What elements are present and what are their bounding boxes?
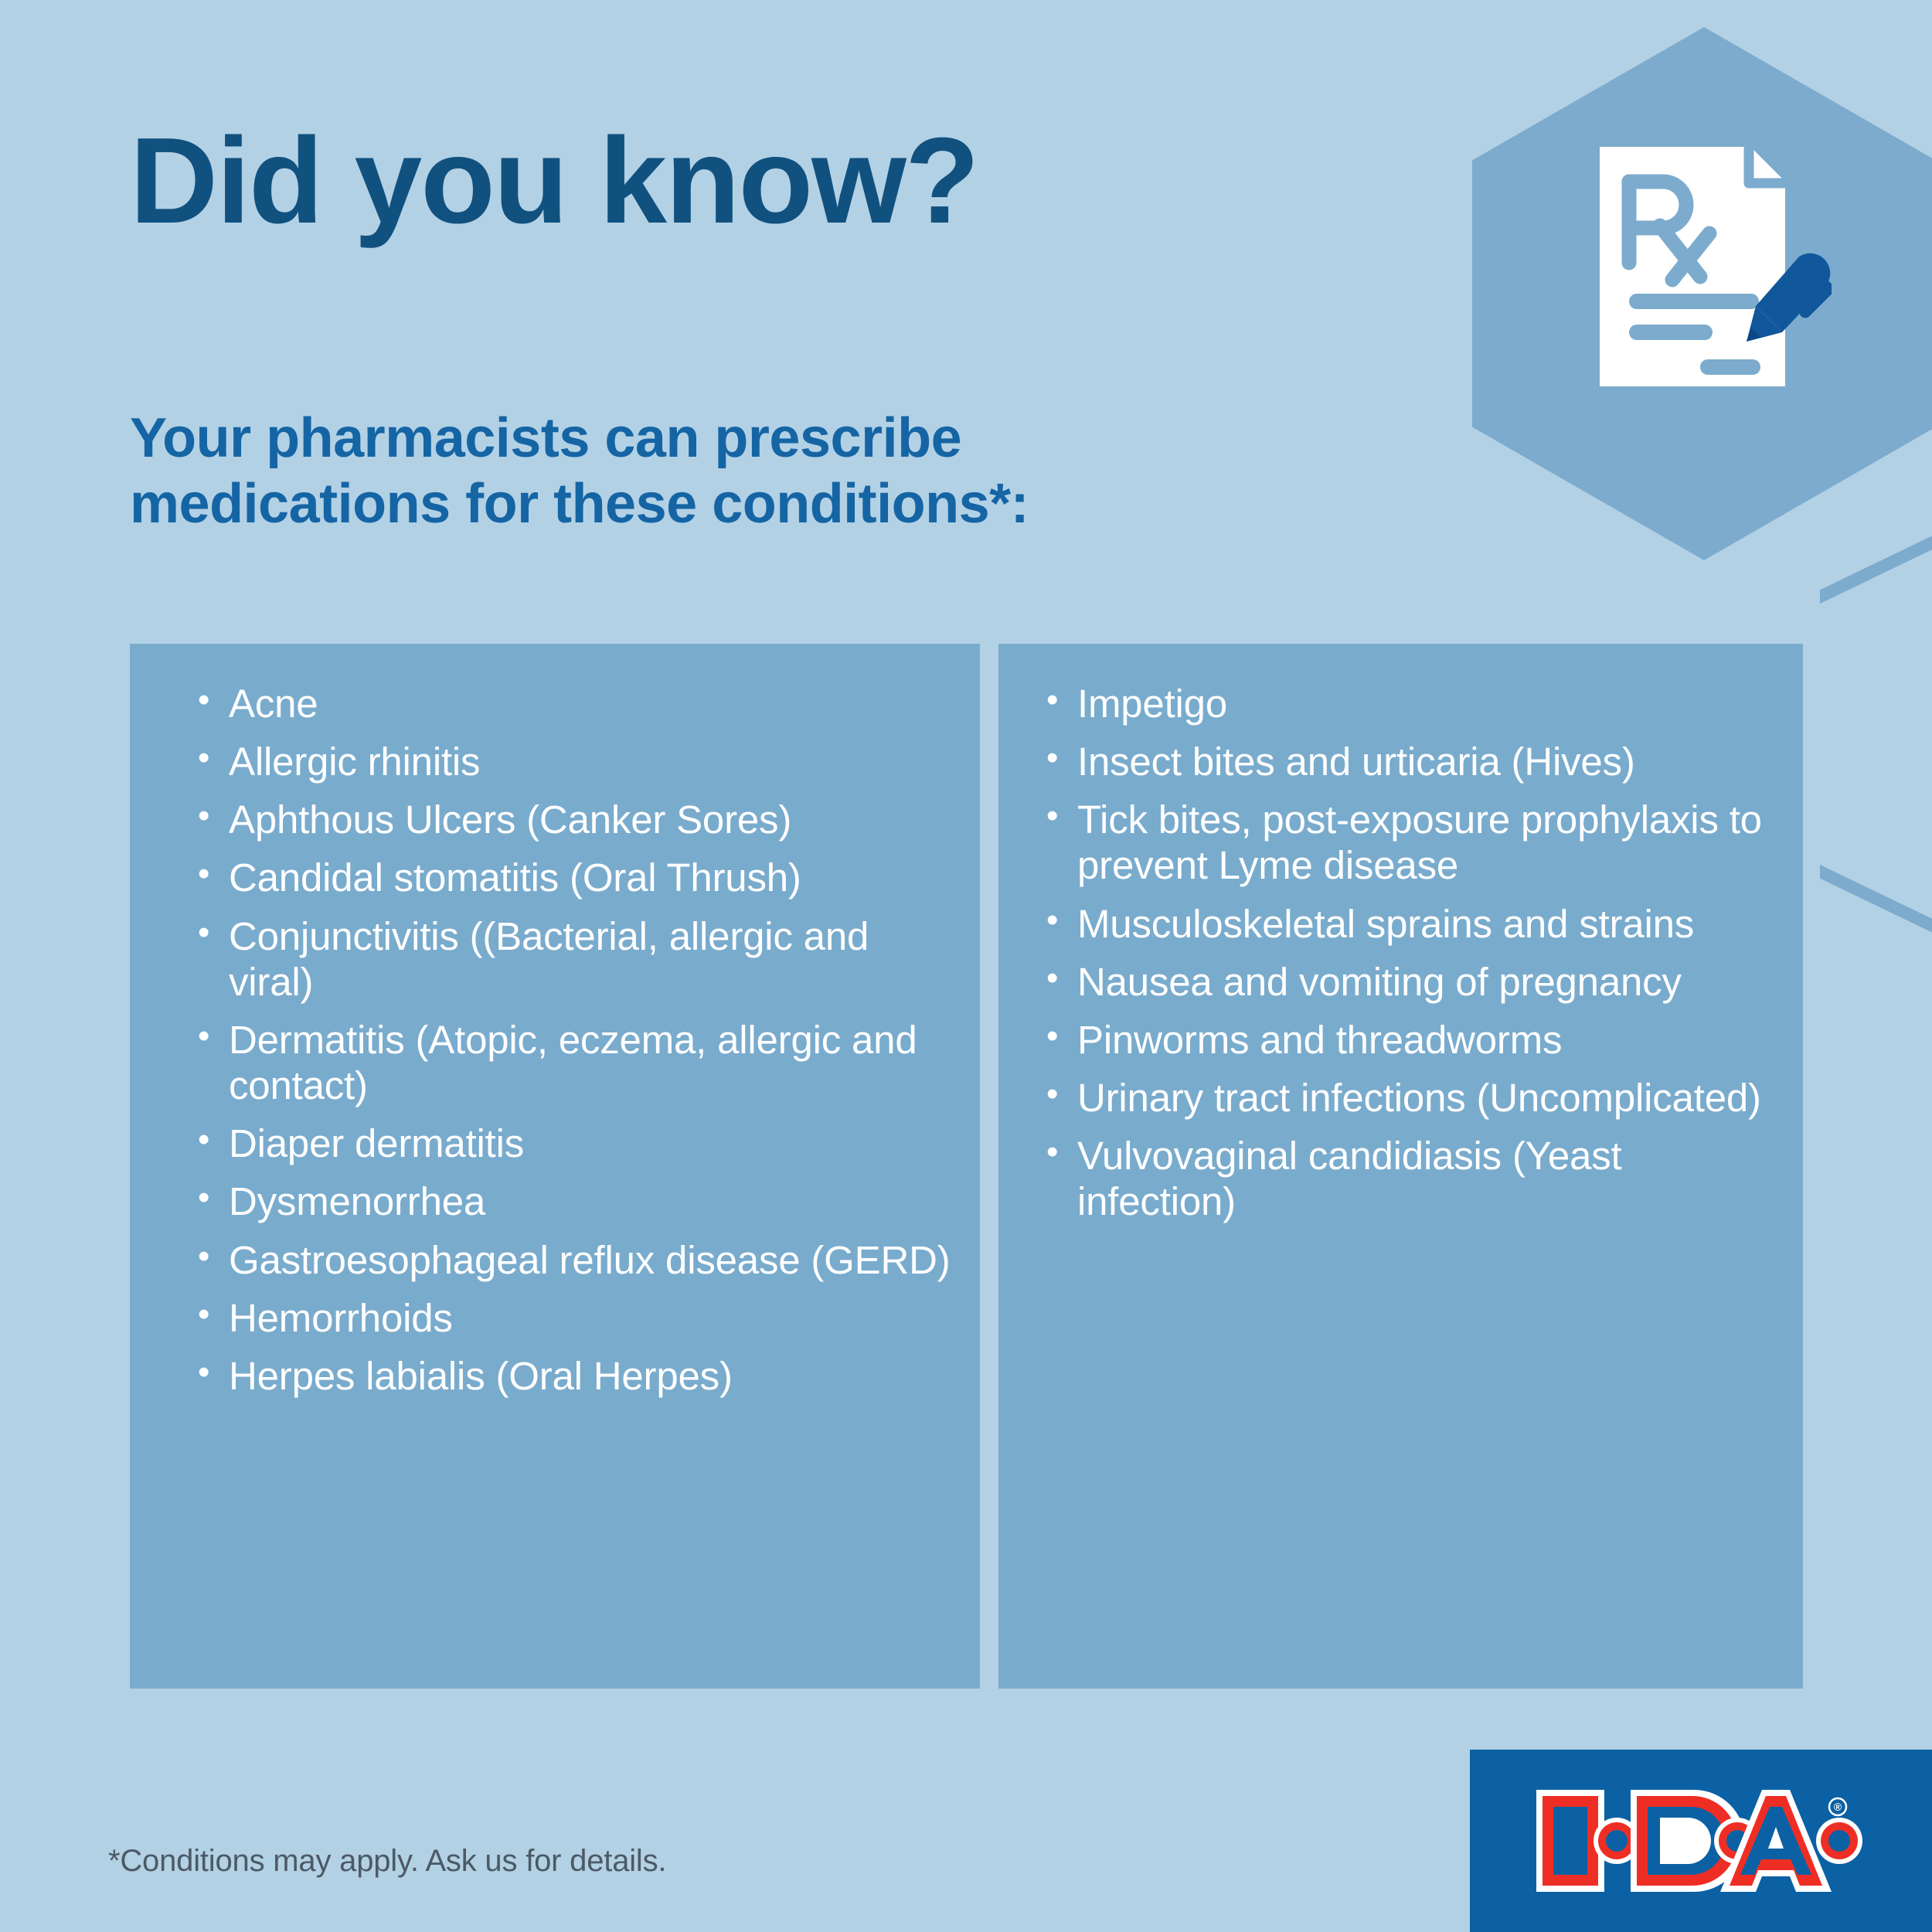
list-item: Vulvovaginal candidiasis (Yeast infectio… xyxy=(1046,1133,1780,1224)
list-item: Herpes labialis (Oral Herpes) xyxy=(198,1353,957,1399)
conditions-panel-right: Impetigo Insect bites and urticaria (Hiv… xyxy=(998,644,1803,1689)
list-item: Nausea and vomiting of pregnancy xyxy=(1046,959,1780,1005)
list-item: Impetigo xyxy=(1046,681,1780,726)
list-item: Hemorrhoids xyxy=(198,1295,957,1341)
footnote-disclaimer: *Conditions may apply. Ask us for detail… xyxy=(108,1844,666,1879)
list-item: Dysmenorrhea xyxy=(198,1179,957,1224)
list-item: Urinary tract infections (Uncomplicated) xyxy=(1046,1075,1780,1121)
list-item: Diaper dermatitis xyxy=(198,1121,957,1166)
list-item: Allergic rhinitis xyxy=(198,739,957,784)
list-item: Dermatitis (Atopic, eczema, allergic and… xyxy=(198,1017,957,1108)
list-item: Pinworms and threadworms xyxy=(1046,1017,1780,1063)
hexagon-outline-svg xyxy=(1820,533,1932,935)
page-title: Did you know? xyxy=(130,120,978,242)
list-item: Musculoskeletal sprains and strains xyxy=(1046,901,1780,947)
conditions-list-right: Impetigo Insect bites and urticaria (Hiv… xyxy=(1022,681,1780,1225)
list-item: Candidal stomatitis (Oral Thrush) xyxy=(198,855,957,900)
ida-logo-block: ® xyxy=(1470,1750,1932,1932)
infographic-poster: Did you know? Your pharmacists can presc… xyxy=(0,0,1932,1932)
list-item: Gastroesophageal reflux disease (GERD) xyxy=(198,1237,957,1283)
subtitle-line-2: medications for these conditions*: xyxy=(130,471,1029,537)
list-item: Acne xyxy=(198,681,957,726)
page-subtitle: Your pharmacists can prescribe medicatio… xyxy=(130,406,1029,537)
list-item: Aphthous Ulcers (Canker Sores) xyxy=(198,797,957,842)
list-item: Conjunctivitis ((Bacterial, allergic and… xyxy=(198,913,957,1005)
ida-logo: ® xyxy=(1530,1779,1870,1903)
list-item: Insect bites and urticaria (Hives) xyxy=(1046,739,1780,784)
subtitle-line-1: Your pharmacists can prescribe xyxy=(130,406,1029,471)
list-item: Tick bites, post-exposure prophylaxis to… xyxy=(1046,797,1780,888)
conditions-panels: Acne Allergic rhinitis Aphthous Ulcers (… xyxy=(130,644,1803,1689)
prescription-rx-document-icon xyxy=(1592,139,1832,394)
hexagon-outline xyxy=(1820,533,1932,935)
conditions-list-left: Acne Allergic rhinitis Aphthous Ulcers (… xyxy=(153,681,957,1399)
registered-mark: ® xyxy=(1834,1801,1842,1813)
conditions-panel-left: Acne Allergic rhinitis Aphthous Ulcers (… xyxy=(130,644,980,1689)
